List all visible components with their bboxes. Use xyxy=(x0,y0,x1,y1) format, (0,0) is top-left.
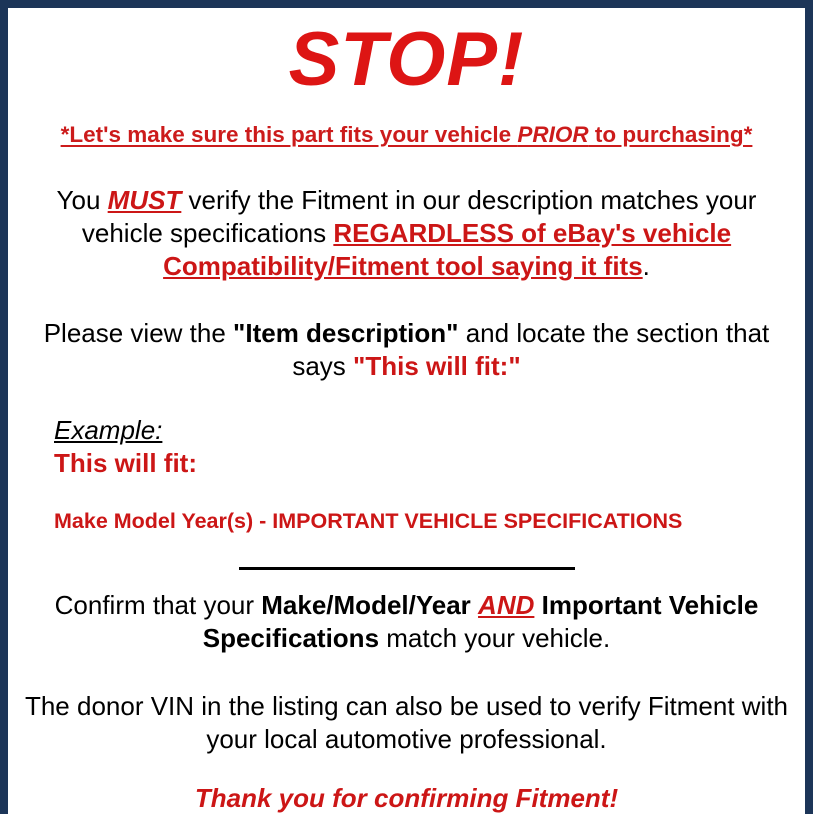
example-fit-heading: This will fit: xyxy=(54,448,791,479)
emphasis-this-will-fit: "This will fit:" xyxy=(353,351,521,381)
emphasis-and: AND xyxy=(478,590,534,620)
emphasis-make-model-year: Make/Model/Year xyxy=(261,590,471,620)
subtitle-lead-text: *Let's make sure this part fits your veh… xyxy=(61,122,518,147)
fitment-notice-card: STOP! *Let's make sure this part fits yo… xyxy=(0,0,813,814)
example-spec-line: Make Model Year(s) - IMPORTANT VEHICLE S… xyxy=(54,509,791,534)
confirm-segment-2 xyxy=(471,590,478,620)
emphasis-must: MUST xyxy=(108,185,182,215)
example-label-row: Example: xyxy=(54,415,791,446)
confirm-segment-4: match your vehicle. xyxy=(379,623,610,653)
section-divider xyxy=(239,567,575,570)
example-block: Example: This will fit: Make Model Year(… xyxy=(22,415,791,534)
must-segment-3: . xyxy=(643,251,650,281)
section-divider-wrapper xyxy=(22,557,791,561)
view-segment-1: Please view the xyxy=(44,318,233,348)
example-label: Example: xyxy=(54,415,162,446)
paragraph-donor-vin: The donor VIN in the listing can also be… xyxy=(22,690,791,756)
paragraph-confirm-match: Confirm that your Make/Model/Year AND Im… xyxy=(22,589,791,655)
confirm-segment-3 xyxy=(534,590,541,620)
must-segment-1: You xyxy=(57,185,108,215)
subtitle-tail-text: to purchasing* xyxy=(589,122,753,147)
subtitle-emphasis-prior: PRIOR xyxy=(517,122,588,147)
notice-content-area: STOP! *Let's make sure this part fits yo… xyxy=(8,22,805,820)
subtitle-banner: *Let's make sure this part fits your veh… xyxy=(22,122,791,148)
paragraph-view-description: Please view the "Item description" and l… xyxy=(22,317,791,383)
page-title: STOP! xyxy=(22,22,791,98)
paragraph-must-verify: You MUST verify the Fitment in our descr… xyxy=(22,184,791,282)
closing-thank-you: Thank you for confirming Fitment! xyxy=(22,783,791,814)
emphasis-item-description: "Item description" xyxy=(233,318,458,348)
confirm-segment-1: Confirm that your xyxy=(55,590,262,620)
